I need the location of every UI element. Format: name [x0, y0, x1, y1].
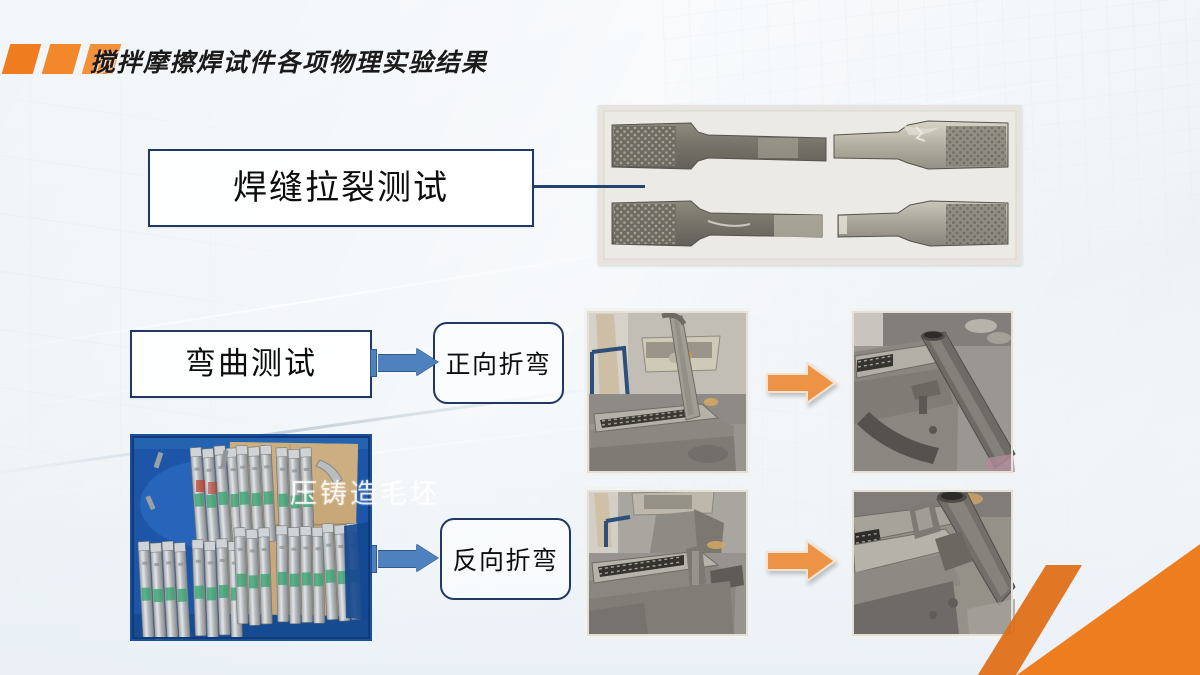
pill-box-reverse-bend-text: 反向折弯 [452, 541, 558, 577]
label-box-bend-test[interactable]: 弯曲测试 [130, 330, 372, 398]
parallelogram-accent-icon [2, 44, 42, 74]
arrow-head [416, 348, 438, 376]
pill-box-reverse-bend[interactable]: 反向折弯 [440, 518, 571, 600]
pill-box-forward-bend[interactable]: 正向折弯 [433, 322, 564, 404]
label-box-tensile-test[interactable]: 焊缝拉裂测试 [148, 149, 534, 227]
photo-vise-reverse-bend [584, 487, 751, 639]
pill-box-forward-bend-text: 正向折弯 [445, 345, 551, 381]
vise-reverse-illustration [584, 487, 751, 639]
arrow-tail-cap [370, 349, 377, 377]
label-box-bend-test-text: 弯曲测试 [185, 349, 317, 380]
page-title: 搅拌摩擦焊试件各项物理实验结果 [90, 43, 488, 79]
orange-right-arrow-icon [765, 538, 837, 584]
photo-tensile-specimens [598, 105, 1022, 265]
tensile-specimens-illustration [598, 105, 1022, 265]
bend-forward-illustration [849, 308, 1016, 476]
specimen-batch-illustration [130, 434, 372, 641]
photo-vise-forward-bend [584, 308, 751, 476]
photo-bend-reverse-result [849, 487, 1016, 639]
photo-bend-forward-result [849, 308, 1016, 476]
blue-right-arrow-icon [370, 544, 440, 572]
bend-reverse-illustration [849, 487, 1016, 639]
orange-right-arrow-icon [765, 360, 837, 406]
vise-forward-illustration [584, 308, 751, 476]
connector-line-tensile [529, 185, 645, 188]
blue-right-arrow-icon [370, 348, 440, 376]
arrow-head [416, 544, 438, 572]
label-box-tensile-test-text: 焊缝拉裂测试 [233, 171, 449, 205]
slide-canvas: 搅拌摩擦焊试件各项物理实验结果 [0, 0, 1200, 675]
parallelogram-accent-icon [42, 44, 82, 74]
photo-specimen-batch [130, 434, 372, 641]
